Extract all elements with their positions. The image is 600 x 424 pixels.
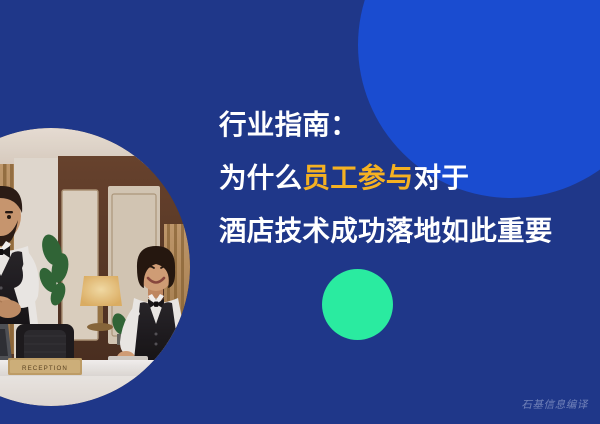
headline-line-2-suffix: 对于 — [414, 162, 470, 193]
headline-accent-text: 员工参与 — [302, 162, 413, 193]
watermark-credit: 石基信息编译 — [521, 397, 588, 412]
headline-block: 行业指南： 为什么员工参与对于 酒店技术成功落地如此重要 — [219, 98, 591, 257]
green-circle-decoration — [322, 269, 393, 340]
headline-line-3: 酒店技术成功落地如此重要 — [219, 204, 591, 257]
hotel-reception-photo: RECEPTION — [0, 128, 190, 406]
poster-slide: RECEPTION — [0, 0, 600, 424]
headline-line-1: 行业指南： — [219, 98, 591, 151]
headline-line-2-prefix: 为什么 — [219, 162, 302, 193]
headline-line-2: 为什么员工参与对于 — [219, 151, 591, 204]
